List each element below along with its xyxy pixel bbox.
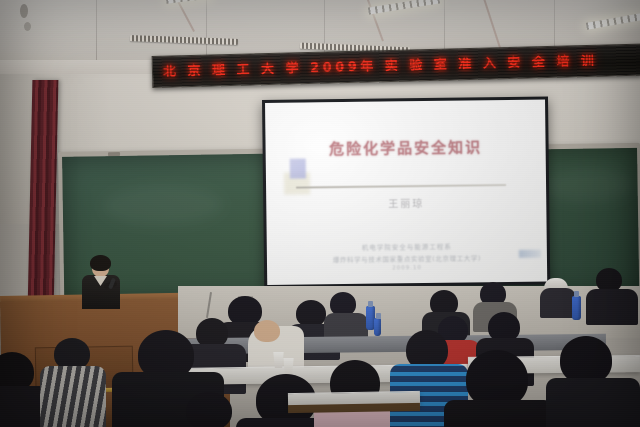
slide-logo <box>519 250 541 258</box>
blue-water-bottle <box>572 296 581 320</box>
projection-screen: 危险化学品安全知识 王丽琼 机电学院安全与能源工程系 爆炸科学与技术国家重点实验… <box>262 97 550 288</box>
slide-subtitle-department: 机电学院安全与能源工程系 <box>267 240 547 253</box>
lecture-hall-photo: 北 京 理 工 大 学 2009年 实 验 室 准 入 安 全 培 训 危险化学… <box>0 0 640 427</box>
blue-water-bottle <box>374 318 381 336</box>
presenter-hair <box>90 255 111 271</box>
presenter <box>78 258 122 306</box>
slide-date: 2009.10 <box>267 264 547 273</box>
slide-author: 王丽琼 <box>266 194 546 212</box>
wall-curtain <box>28 80 59 310</box>
slide-decoration-square <box>290 158 306 178</box>
projected-slide: 危险化学品安全知识 王丽琼 机电学院安全与能源工程系 爆炸科学与技术国家重点实验… <box>265 100 547 285</box>
slide-subtitle-lab: 爆炸科学与技术国家重点实验室(北京理工大学) <box>267 252 547 265</box>
slide-divider <box>296 184 506 189</box>
slide-title: 危险化学品安全知识 <box>265 136 545 160</box>
